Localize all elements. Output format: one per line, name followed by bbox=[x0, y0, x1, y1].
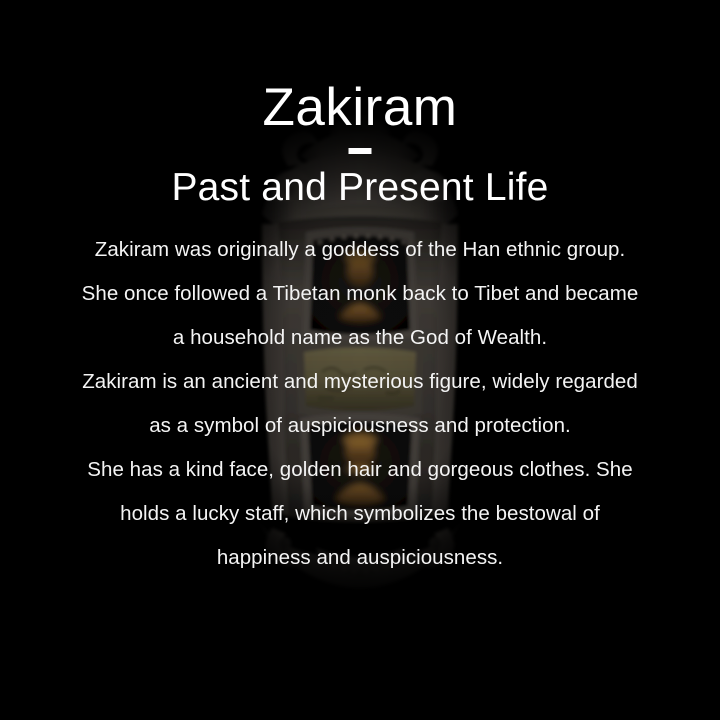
description-line: Zakiram is an ancient and mysterious fig… bbox=[40, 360, 680, 404]
description-line: happiness and auspiciousness. bbox=[40, 536, 680, 580]
description-line: Zakiram was originally a goddess of the … bbox=[40, 228, 680, 272]
description-block: Zakiram was originally a goddess of the … bbox=[40, 228, 680, 580]
page-subtitle: Past and Present Life bbox=[0, 166, 720, 210]
description-line: as a symbol of auspiciousness and protec… bbox=[40, 404, 680, 448]
title-divider bbox=[349, 148, 372, 154]
description-line: a household name as the God of Wealth. bbox=[40, 316, 680, 360]
poster-content: Zakiram Past and Present Life Zakiram wa… bbox=[0, 0, 720, 720]
page-title: Zakiram bbox=[0, 79, 720, 136]
description-line: holds a lucky staff, which symbolizes th… bbox=[40, 492, 680, 536]
description-line: She has a kind face, golden hair and gor… bbox=[40, 448, 680, 492]
description-line: She once followed a Tibetan monk back to… bbox=[40, 272, 680, 316]
poster-canvas: Zakiram Past and Present Life Zakiram wa… bbox=[0, 0, 720, 720]
